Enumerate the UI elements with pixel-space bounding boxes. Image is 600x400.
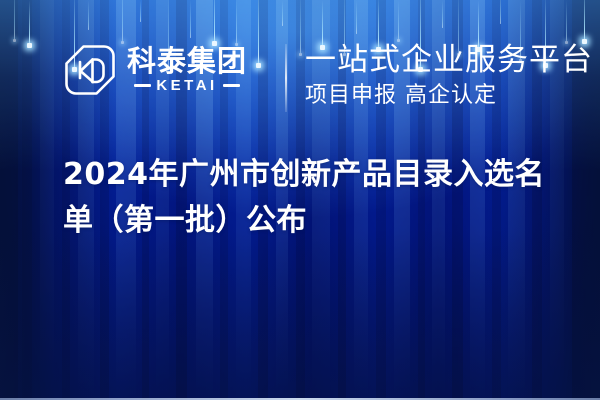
- brand-dash-right-icon: [223, 84, 240, 87]
- meteor-streak-icon: [122, 0, 123, 42]
- meteor-streak-icon: [442, 0, 443, 28]
- brand-name-cn: 科泰集团: [127, 47, 247, 76]
- meteor-streak-icon: [236, 0, 237, 44]
- meteor-streak-icon: [214, 0, 215, 44]
- promo-banner: 科泰集团 KETAI 一站式企业服务平台 项目申报 高企认定 2024年广州市创…: [0, 0, 600, 400]
- meteor-streak-icon: [190, 0, 191, 38]
- meteor-streak-icon: [88, 0, 89, 30]
- meteor-streak-icon: [566, 0, 567, 42]
- meteor-streak-icon: [356, 0, 357, 34]
- meteor-streak-icon: [584, 0, 585, 42]
- bottom-shade-overlay: [0, 230, 600, 400]
- ketai-diamond-kd-emblem-icon: [62, 42, 118, 98]
- banner-header: 科泰集团 KETAI 一站式企业服务平台 项目申报 高企认定: [0, 40, 600, 118]
- meteor-streak-icon: [282, 0, 283, 26]
- tagline-secondary: 项目申报 高企认定: [305, 80, 593, 112]
- brand-dash-left-icon: [134, 84, 151, 87]
- tagline-primary: 一站式企业服务平台: [305, 40, 593, 80]
- page-title: 2024年广州市创新产品目录入选名单（第一批）公布: [63, 152, 563, 244]
- brand-name-en: KETAI: [156, 78, 217, 93]
- brand-logo[interactable]: 科泰集团 KETAI: [62, 42, 247, 98]
- header-divider: [285, 44, 287, 112]
- meteor-streak-icon: [140, 0, 141, 22]
- meteor-streak-icon: [500, 0, 501, 24]
- brand-name-en-row: KETAI: [127, 78, 247, 93]
- tagline-block: 一站式企业服务平台 项目申报 高企认定: [305, 40, 593, 112]
- brand-text: 科泰集团 KETAI: [127, 47, 247, 93]
- meteor-streak-icon: [398, 0, 399, 40]
- meteor-streak-icon: [14, 0, 15, 40]
